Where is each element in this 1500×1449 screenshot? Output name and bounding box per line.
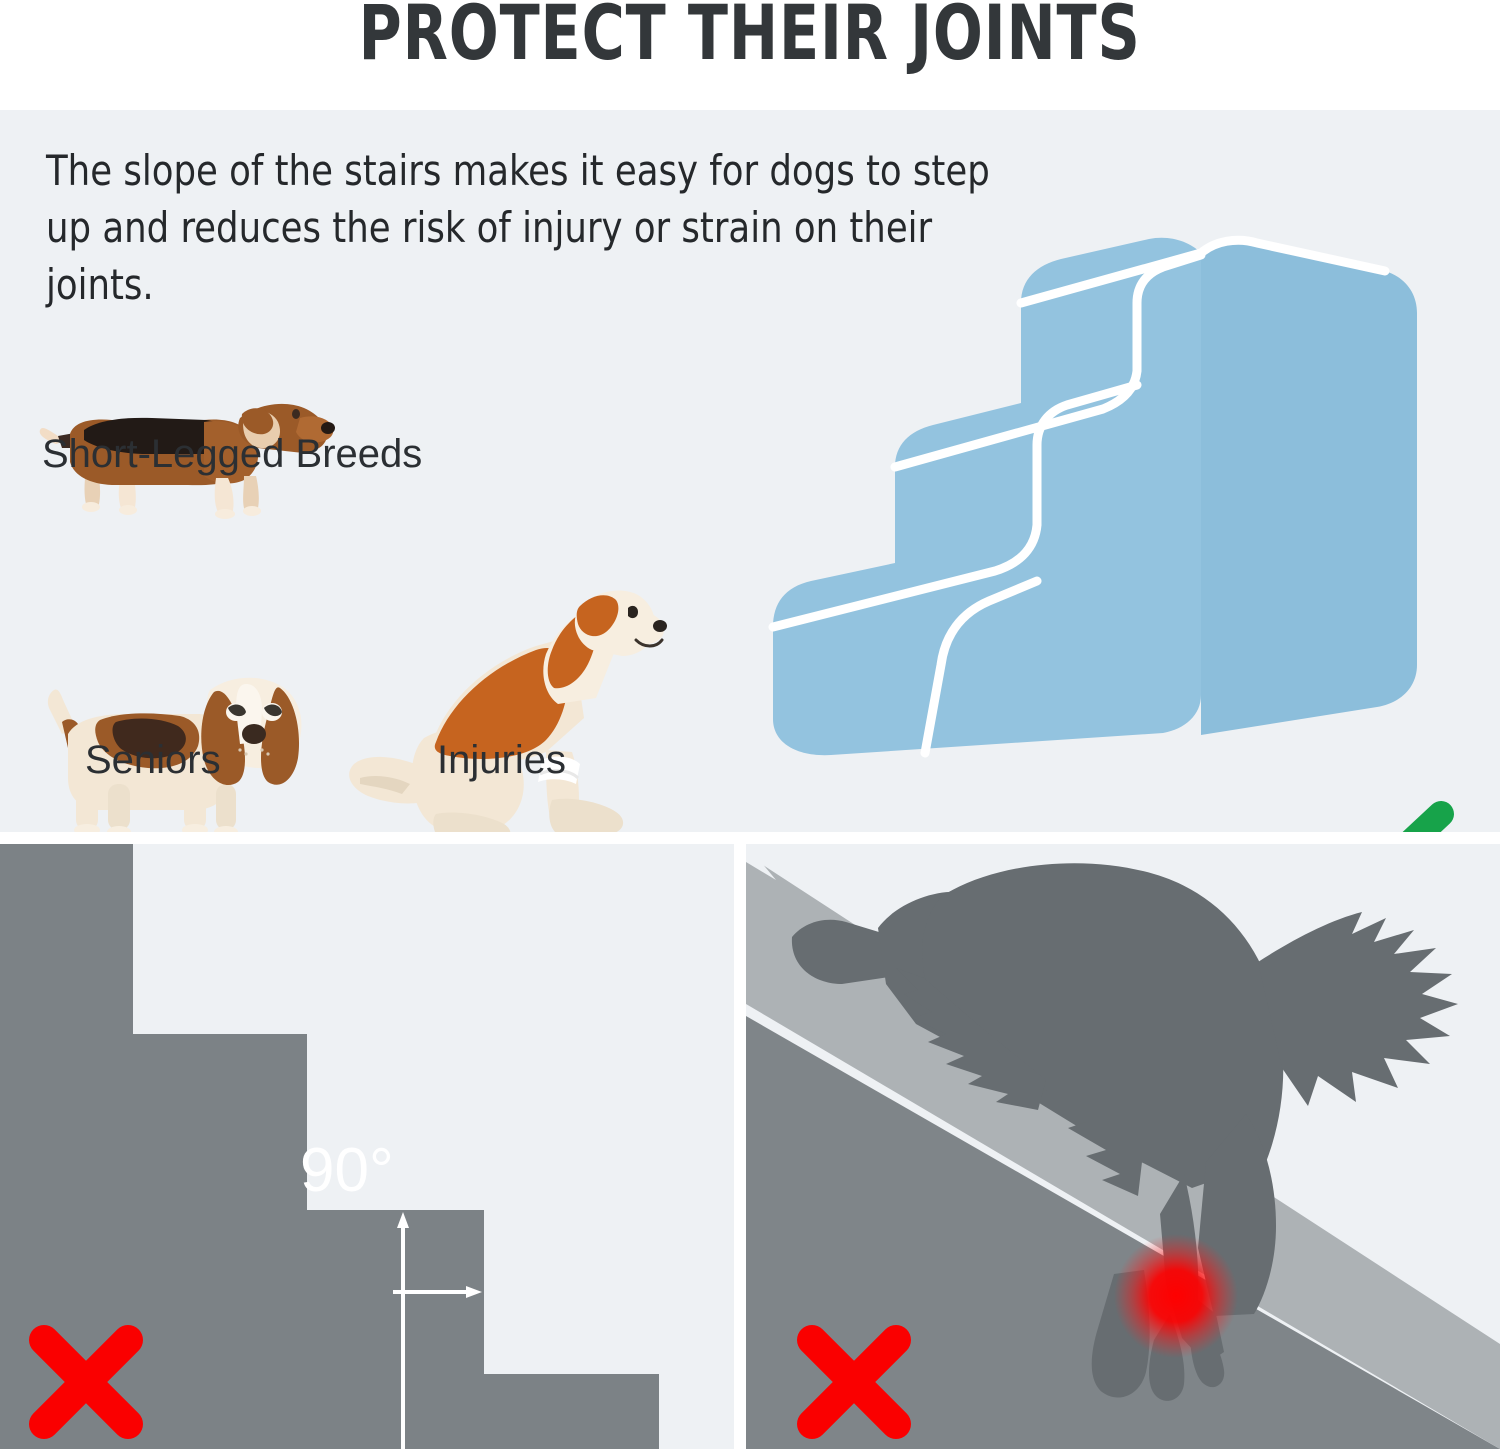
angle-label: 90° [300,1135,394,1206]
infographic-page: PROTECT THEIR JOINTS The slope of the st… [0,0,1500,1449]
red-pain-glow-icon [1114,1234,1238,1358]
bottom-left-panel: 90° [0,844,734,1449]
dog-jumping-down-ramp-icon [746,844,1500,1449]
dog-card-label-injuries: Injuries [437,738,566,783]
dog-card-label-short-legged-breeds: Short-Legged Breeds [42,432,422,477]
sitting-dog-bandaged-leg-icon [340,578,670,832]
green-checkmark-icon [1295,800,1460,832]
bottom-right-panel [746,844,1500,1449]
blue-foam-pet-stairs-icon [745,195,1445,775]
dog-card-label-seniors: Seniors [85,738,221,783]
title-bar: PROTECT THEIR JOINTS [0,0,1500,110]
page-title: PROTECT THEIR JOINTS [359,0,1141,70]
